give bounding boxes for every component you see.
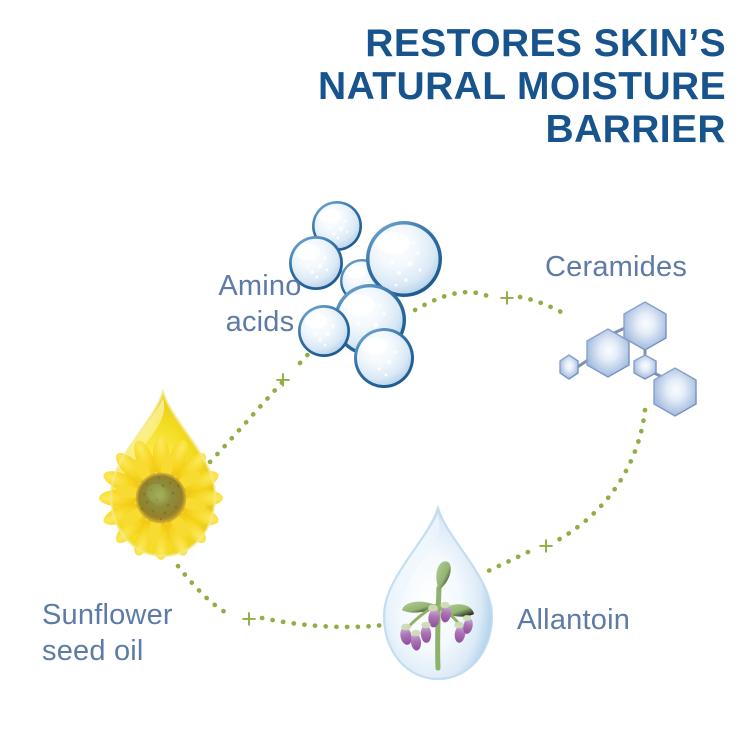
headline-line-3: BARRIER bbox=[86, 108, 726, 151]
sunflower-graphic bbox=[99, 436, 223, 560]
label-allantoin: Allantoin bbox=[517, 602, 717, 638]
headline-line-2: NATURAL MOISTURE bbox=[86, 65, 726, 108]
label-allantoin-line-1: Allantoin bbox=[517, 604, 630, 636]
plus-icon-sunflower-amino: + bbox=[270, 367, 296, 394]
infographic-canvas: RESTORES SKIN’S NATURAL MOISTURE BARRIER… bbox=[0, 0, 750, 750]
plus-icon-amino-ceramides: + bbox=[494, 285, 520, 312]
allantoin-droplet bbox=[384, 508, 492, 679]
page-headline: RESTORES SKIN’S NATURAL MOISTURE BARRIER bbox=[86, 22, 726, 151]
ceramide-hex-small-left bbox=[560, 355, 578, 379]
ceramide-hex-top bbox=[624, 302, 666, 350]
plant-stem bbox=[438, 588, 439, 668]
ceramides-molecule bbox=[560, 302, 696, 416]
connector-amino-to-ceramides-b bbox=[520, 297, 565, 314]
connector-amino-to-ceramides bbox=[415, 292, 490, 310]
connector-sunflower-to-allantoin-b bbox=[262, 618, 392, 627]
label-ceramides: Ceramides bbox=[545, 249, 725, 285]
plus-icon-ceramides-allantoin: + bbox=[533, 533, 559, 560]
label-sunflower-seed-oil: Sunflower seed oil bbox=[42, 597, 242, 669]
ceramide-hex-large-left bbox=[587, 329, 629, 377]
connector-ceramides-to-allantoin bbox=[558, 410, 645, 540]
amino-sphere-7 bbox=[354, 328, 414, 388]
label-amino-acids-line-1: Amino bbox=[218, 270, 301, 302]
label-sunflower-line-2: seed oil bbox=[42, 633, 242, 669]
plus-icon-sunflower-allantoin: + bbox=[236, 606, 262, 633]
label-amino-acids-line-2: acids bbox=[200, 304, 320, 340]
label-amino-acids: Amino acids bbox=[200, 268, 320, 340]
label-ceramides-line-1: Ceramides bbox=[545, 251, 687, 283]
sunflower-seed-oil-droplet bbox=[99, 392, 223, 560]
label-sunflower-line-1: Sunflower bbox=[42, 599, 173, 631]
ceramide-hex-small-mid bbox=[634, 355, 656, 379]
connector-ceramides-to-allantoin-b bbox=[482, 552, 528, 574]
headline-line-1: RESTORES SKIN’S bbox=[86, 22, 726, 65]
